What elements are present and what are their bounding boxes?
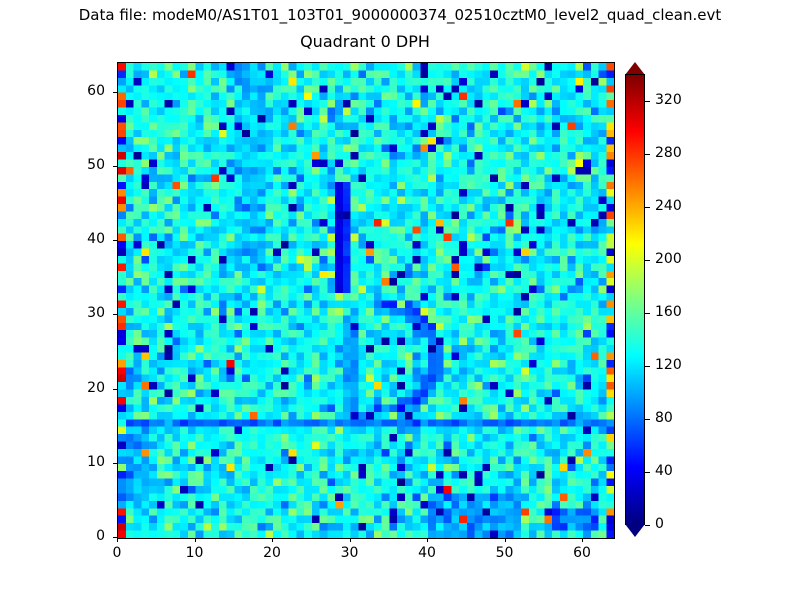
y-tick-mark: [113, 537, 117, 538]
x-tick-mark: [272, 538, 273, 542]
y-tick-mark: [113, 240, 117, 241]
colorbar-extend-min-icon: [625, 524, 645, 537]
colorbar-tick-mark: [645, 419, 650, 420]
y-tick-mark: [113, 314, 117, 315]
colorbar-tick-label: 320: [655, 92, 682, 108]
colorbar-tick-label: 40: [655, 463, 673, 479]
colorbar-tick-mark: [645, 366, 650, 367]
x-tick-label: 60: [552, 545, 612, 561]
heatmap-image[interactable]: [118, 63, 614, 538]
x-tick-mark: [195, 538, 196, 542]
colorbar-tick-mark: [645, 154, 650, 155]
colorbar-tick-label: 240: [655, 198, 682, 214]
colorbar-tick-label: 0: [655, 516, 664, 532]
colorbar-tick-mark: [645, 101, 650, 102]
matplotlib-figure: Data file: modeM0/AS1T01_103T01_90000003…: [0, 0, 800, 600]
x-tick-label: 40: [397, 545, 457, 561]
y-tick-label: 40: [45, 231, 105, 247]
colorbar-gradient: [625, 74, 645, 525]
colorbar-tick-label: 200: [655, 251, 682, 267]
colorbar-tick-mark: [645, 313, 650, 314]
x-tick-mark: [582, 538, 583, 542]
y-tick-label: 20: [45, 380, 105, 396]
colorbar-tick-mark: [645, 472, 650, 473]
x-tick-mark: [427, 538, 428, 542]
y-tick-mark: [113, 389, 117, 390]
colorbar-tick-label: 160: [655, 304, 682, 320]
x-tick-label: 30: [320, 545, 380, 561]
y-tick-mark: [113, 166, 117, 167]
plot-title: Quadrant 0 DPH: [117, 32, 613, 51]
y-tick-mark: [113, 92, 117, 93]
colorbar-tick-label: 280: [655, 145, 682, 161]
y-tick-mark: [113, 463, 117, 464]
colorbar-tick-label: 80: [655, 410, 673, 426]
colorbar[interactable]: 04080120160200240280320: [625, 62, 647, 537]
colorbar-tick-mark: [645, 260, 650, 261]
x-tick-label: 10: [165, 545, 225, 561]
x-tick-label: 0: [87, 545, 147, 561]
colorbar-tick-label: 120: [655, 357, 682, 373]
x-tick-label: 20: [242, 545, 302, 561]
x-tick-mark: [505, 538, 506, 542]
y-tick-label: 0: [45, 528, 105, 544]
x-tick-label: 50: [475, 545, 535, 561]
data-file-label: Data file: modeM0/AS1T01_103T01_90000003…: [0, 6, 800, 24]
colorbar-tick-mark: [645, 525, 650, 526]
y-tick-label: 60: [45, 83, 105, 99]
x-tick-mark: [117, 538, 118, 542]
y-tick-label: 10: [45, 454, 105, 470]
heatmap-axes[interactable]: [117, 62, 615, 539]
colorbar-tick-mark: [645, 207, 650, 208]
y-tick-label: 50: [45, 157, 105, 173]
y-tick-label: 30: [45, 305, 105, 321]
x-tick-mark: [350, 538, 351, 542]
